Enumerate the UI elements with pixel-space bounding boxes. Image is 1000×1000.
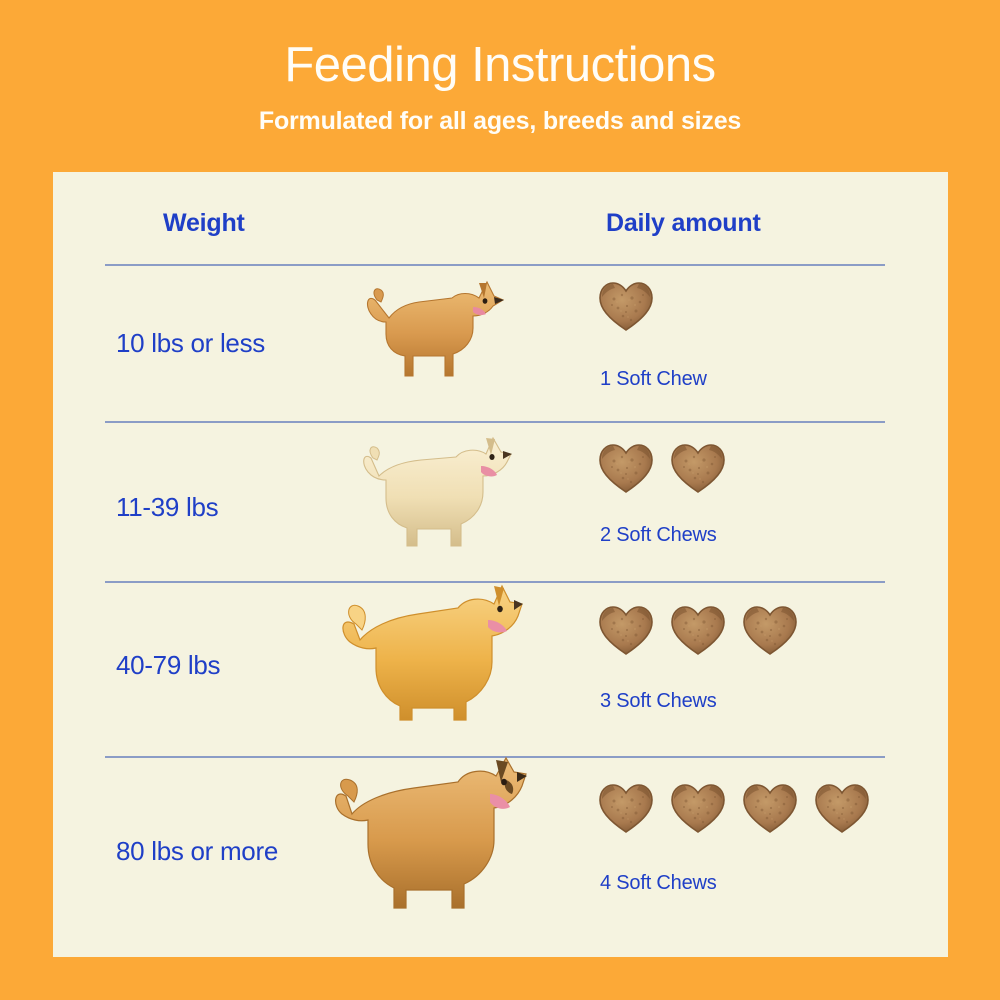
daily-amount-label: 1 Soft Chew: [600, 368, 707, 391]
soft-chew-icon: [742, 782, 798, 834]
soft-chew-group: [598, 604, 798, 656]
soft-chew-icon: [598, 442, 654, 494]
soft-chew-icon: [598, 604, 654, 656]
column-header-weight: Weight: [163, 209, 245, 238]
column-header-daily-amount: Daily amount: [606, 209, 761, 238]
daily-amount-label: 2 Soft Chews: [600, 524, 717, 547]
soft-chew-icon: [598, 280, 654, 332]
row-divider: [105, 264, 885, 266]
dog-illustration-chihuahua: [353, 270, 513, 385]
feeding-instructions-page: Feeding Instructions Formulated for all …: [0, 0, 1000, 1000]
soft-chew-icon: [742, 604, 798, 656]
weight-label: 80 lbs or more: [116, 836, 278, 867]
weight-label: 10 lbs or less: [116, 328, 265, 359]
page-header: Feeding Instructions Formulated for all …: [0, 0, 1000, 136]
soft-chew-icon: [670, 782, 726, 834]
feeding-table-panel: Weight Daily amount 10 lbs or less: [53, 172, 948, 957]
soft-chew-group: [598, 280, 654, 332]
dog-illustration-golden-retriever: [328, 576, 528, 726]
soft-chew-group: [598, 782, 870, 834]
weight-label: 40-79 lbs: [116, 650, 220, 681]
soft-chew-icon: [598, 782, 654, 834]
daily-amount-label: 4 Soft Chews: [600, 872, 717, 895]
soft-chew-icon: [670, 442, 726, 494]
soft-chew-icon: [670, 604, 726, 656]
dog-illustration-mastiff: [318, 752, 533, 917]
dog-illustration-french-bulldog: [343, 424, 518, 554]
page-title: Feeding Instructions: [0, 0, 1000, 93]
page-subtitle: Formulated for all ages, breeds and size…: [0, 93, 1000, 136]
soft-chew-group: [598, 442, 726, 494]
soft-chew-icon: [814, 782, 870, 834]
row-divider: [105, 421, 885, 423]
daily-amount-label: 3 Soft Chews: [600, 690, 717, 713]
weight-label: 11-39 lbs: [116, 492, 218, 523]
